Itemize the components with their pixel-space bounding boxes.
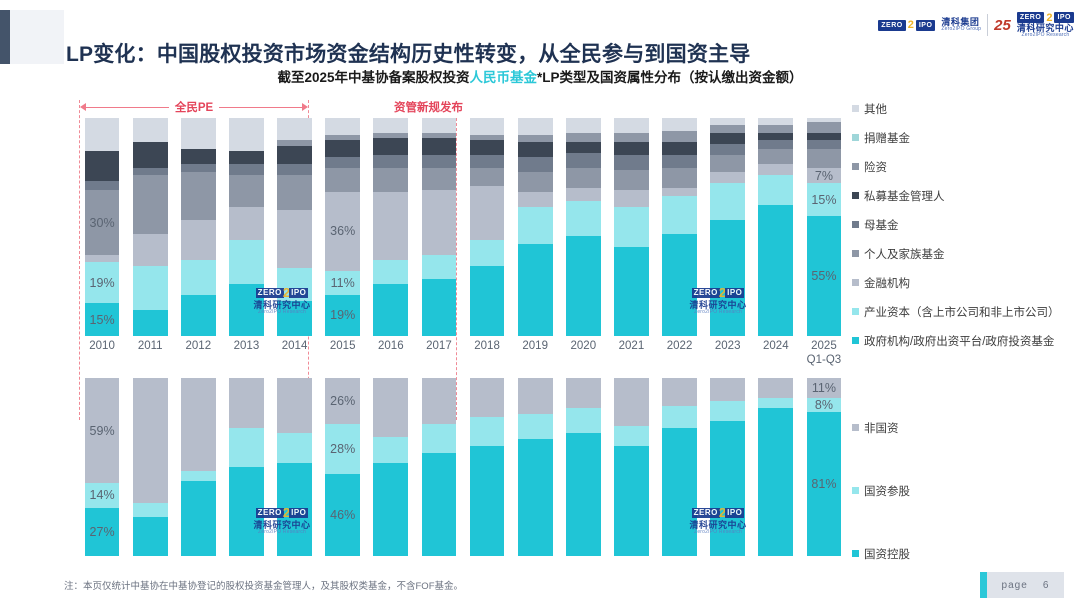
bar-segment[interactable] (566, 168, 601, 188)
bar-segment[interactable] (133, 503, 168, 517)
bar-column[interactable] (415, 118, 463, 336)
bar-column[interactable] (174, 118, 222, 336)
bar-segment[interactable] (662, 142, 697, 155)
bar-value-label: 7% (807, 169, 842, 183)
bar-segment[interactable] (133, 266, 168, 310)
bar-segment[interactable] (181, 471, 216, 482)
bar-column[interactable] (174, 378, 222, 556)
legend-item[interactable]: 其他 (852, 94, 1080, 123)
x-axis-tick: 2020 (559, 336, 607, 376)
stacked-bar[interactable] (662, 378, 697, 556)
bar-segment[interactable] (181, 164, 216, 173)
legend-swatch-icon (852, 134, 859, 141)
bar-segment[interactable]: 26% (325, 378, 360, 424)
legend-item[interactable]: 母基金 (852, 210, 1080, 239)
bar-segment[interactable] (373, 155, 408, 168)
legend-label: 产业资本（含上市公司和非上市公司） (864, 304, 1060, 320)
bar-segment[interactable] (133, 175, 168, 234)
bar-column[interactable] (511, 118, 559, 336)
x-axis-tick: 2015 (319, 336, 367, 376)
bar-segment[interactable] (470, 446, 505, 556)
bar-segment[interactable] (518, 172, 553, 192)
x-axis-tick: 2019 (511, 336, 559, 376)
bar-segment[interactable] (229, 118, 264, 151)
bar-segment[interactable] (662, 188, 697, 197)
stacked-bar[interactable] (181, 118, 216, 336)
bar-segment[interactable] (373, 118, 408, 133)
stacked-bar[interactable] (566, 118, 601, 336)
legend-label: 国资参股 (864, 483, 910, 499)
annotation-quanmin-label: 全民PE (169, 99, 219, 115)
stacked-bar[interactable]: 11%8%81% (807, 378, 842, 556)
legend-item[interactable]: 国资参股 (852, 459, 1080, 522)
bar-segment[interactable]: 11% (807, 378, 842, 398)
bar-segment[interactable] (518, 414, 553, 439)
bar-segment[interactable] (758, 149, 793, 164)
bar-segment[interactable]: 15% (807, 183, 842, 216)
bar-segment[interactable] (133, 234, 168, 267)
bar-column[interactable] (463, 118, 511, 336)
stacked-bar[interactable]: 26%28%46% (325, 378, 360, 556)
bar-segment[interactable] (518, 378, 553, 414)
stacked-bar[interactable] (373, 378, 408, 556)
bar-segment[interactable] (614, 142, 649, 155)
bar-segment[interactable]: 55% (807, 216, 842, 336)
bar-column[interactable] (607, 118, 655, 336)
bar-segment[interactable] (277, 268, 312, 301)
legend-swatch-icon (852, 337, 859, 344)
bar-column[interactable] (559, 118, 607, 336)
legend-item[interactable]: 金融机构 (852, 268, 1080, 297)
bar-segment[interactable] (277, 433, 312, 463)
bar-segment[interactable] (422, 424, 457, 452)
stacked-bar[interactable] (758, 118, 793, 336)
bar-segment[interactable] (470, 168, 505, 185)
bar-segment[interactable] (710, 401, 745, 421)
bar-segment[interactable] (229, 284, 264, 336)
bar-series-bottom: 59%14%27%26%28%46%11%8%81% (78, 378, 848, 556)
bar-segment[interactable]: 46% (325, 474, 360, 556)
bar-segment[interactable] (133, 118, 168, 142)
bar-segment[interactable] (373, 260, 408, 284)
bar-segment[interactable] (662, 131, 697, 142)
bar-segment[interactable] (614, 170, 649, 190)
stacked-bar[interactable] (277, 378, 312, 556)
bar-segment[interactable] (133, 378, 168, 503)
legend-label: 国资控股 (864, 546, 910, 562)
stacked-bar[interactable]: 36%11%19% (325, 118, 360, 336)
stacked-bar[interactable] (133, 118, 168, 336)
bar-column[interactable]: 36%11%19% (319, 118, 367, 336)
bar-segment[interactable] (422, 168, 457, 190)
bar-segment[interactable] (614, 190, 649, 207)
bar-segment[interactable] (614, 155, 649, 170)
stacked-bar[interactable] (518, 378, 553, 556)
bar-segment[interactable]: 15% (85, 303, 120, 336)
legend-item[interactable]: 个人及家族基金 (852, 239, 1080, 268)
bar-segment[interactable] (422, 190, 457, 255)
x-axis-tick: 2012 (174, 336, 222, 376)
stacked-bar[interactable] (373, 118, 408, 336)
bar-segment[interactable] (710, 378, 745, 401)
bar-segment[interactable] (662, 406, 697, 427)
bar-segment[interactable] (181, 172, 216, 220)
bar-segment[interactable] (566, 408, 601, 433)
ipo-box-right: IPO (1054, 12, 1074, 23)
bar-value-label: 27% (85, 525, 120, 539)
bar-column[interactable] (511, 378, 559, 556)
x-axis-tick: 2011 (126, 336, 174, 376)
bar-segment[interactable] (373, 192, 408, 260)
bar-column[interactable]: 7%15%55% (800, 118, 848, 336)
bar-segment[interactable] (85, 181, 120, 190)
bar-segment[interactable]: 8% (807, 398, 842, 412)
bar-segment[interactable] (518, 142, 553, 157)
bar-segment[interactable] (229, 467, 264, 556)
chart-lp-type: 30%19%15%36%11%19%7%15%55% ZERO 2 IPO 清科… (78, 118, 848, 336)
bar-segment[interactable] (614, 426, 649, 446)
bar-segment[interactable]: 59% (85, 378, 120, 483)
bar-column[interactable] (367, 378, 415, 556)
stacked-bar[interactable]: 7%15%55% (807, 118, 842, 336)
bar-segment[interactable] (566, 201, 601, 236)
bar-value-label: 14% (85, 488, 120, 502)
bar-segment[interactable] (758, 140, 793, 149)
bar-column[interactable] (271, 378, 319, 556)
bar-segment[interactable] (277, 164, 312, 175)
bar-segment[interactable] (807, 149, 842, 169)
bar-value-label: 26% (325, 394, 360, 408)
bar-segment[interactable] (277, 118, 312, 140)
charts-container: 全民PE 资管新规发布 30%19%15%36%11%19%7%15%55% Z… (78, 96, 848, 564)
bar-segment[interactable] (518, 157, 553, 172)
logo-divider (987, 14, 988, 36)
bar-segment[interactable] (710, 133, 745, 144)
bar-segment[interactable] (373, 168, 408, 192)
bar-segment[interactable] (710, 155, 745, 172)
bar-segment[interactable] (373, 378, 408, 437)
bar-segment[interactable] (662, 118, 697, 131)
stacked-bar[interactable] (422, 378, 457, 556)
bar-segment[interactable] (518, 192, 553, 207)
legend-swatch-icon (852, 550, 859, 557)
bar-segment[interactable] (614, 118, 649, 133)
zero2ipo-research-logo: ZERO 2 IPO 清科研究中心 Zero2IPO Research (1017, 12, 1074, 38)
legend-swatch-icon (852, 192, 859, 199)
x-axis-tick: 2023 (704, 336, 752, 376)
bar-segment[interactable] (710, 172, 745, 183)
bar-segment[interactable] (710, 125, 745, 134)
bar-column[interactable] (222, 118, 270, 336)
bar-segment[interactable] (325, 168, 360, 192)
bar-segment[interactable] (133, 142, 168, 168)
bar-segment[interactable] (181, 260, 216, 295)
stacked-bar[interactable] (229, 118, 264, 336)
bar-segment[interactable] (325, 157, 360, 168)
chart-subtitle: 截至2025年中基协备案股权投资人民币基金*LP类型及国资属性分布（按认缴出资金… (0, 66, 1080, 86)
bar-segment[interactable] (614, 207, 649, 246)
x-axis-tick: 2025Q1-Q3 (800, 336, 848, 376)
subtitle-pre: 截至2025年中基协备案股权投资 (277, 70, 469, 85)
bar-series-top: 30%19%15%36%11%19%7%15%55% (78, 118, 848, 336)
stacked-bar[interactable] (614, 378, 649, 556)
bar-value-label: 81% (807, 477, 842, 491)
bar-segment[interactable] (566, 153, 601, 168)
era-annotations: 全民PE 资管新规发布 (78, 96, 848, 118)
bar-segment[interactable] (325, 118, 360, 135)
bar-segment[interactable] (614, 378, 649, 426)
x-axis-tick: 2010 (78, 336, 126, 376)
x-axis-tick: 2016 (367, 336, 415, 376)
bar-segment[interactable] (277, 301, 312, 336)
bar-column[interactable]: 11%8%81% (800, 378, 848, 556)
bar-segment[interactable] (422, 453, 457, 556)
bar-segment[interactable]: 27% (85, 508, 120, 556)
bar-segment[interactable] (470, 140, 505, 155)
footnote: 注：本页仅统计中基协在中基协登记的股权投资基金管理人，及其股权类基金，不含FOF… (64, 578, 463, 592)
bar-value-label: 59% (85, 424, 120, 438)
stacked-bar[interactable] (710, 118, 745, 336)
bar-segment[interactable] (325, 140, 360, 157)
bar-segment[interactable] (518, 439, 553, 556)
bar-segment[interactable] (662, 155, 697, 168)
bar-segment[interactable] (470, 378, 505, 417)
bar-segment[interactable] (470, 417, 505, 445)
legend-item[interactable]: 捐赠基金 (852, 123, 1080, 152)
bar-segment[interactable] (422, 138, 457, 155)
bar-segment[interactable] (662, 378, 697, 406)
bar-segment[interactable] (229, 175, 264, 208)
bar-segment[interactable] (229, 378, 264, 428)
bar-segment[interactable] (422, 118, 457, 133)
page-title: LP变化：中国股权投资市场资金结构历史性转变，从全民参与到国资主导 (66, 38, 750, 68)
legend-label: 个人及家族基金 (864, 246, 945, 262)
bar-segment[interactable] (614, 446, 649, 556)
bar-column[interactable]: 26%28%46% (319, 378, 367, 556)
bar-segment[interactable] (373, 138, 408, 155)
bar-segment[interactable] (710, 144, 745, 155)
page-text: page 6 (987, 580, 1064, 591)
page-indicator: page 6 (980, 572, 1064, 598)
stacked-bar[interactable]: 59%14%27% (85, 378, 120, 556)
bar-segment[interactable] (566, 378, 601, 408)
bar-value-label: 46% (325, 508, 360, 522)
bar-segment[interactable] (710, 421, 745, 556)
legend-label: 私募基金管理人 (864, 188, 945, 204)
bar-segment[interactable] (807, 140, 842, 149)
bar-segment[interactable] (229, 164, 264, 175)
stacked-bar[interactable] (470, 118, 505, 336)
subtitle-post: *LP类型及国资属性分布（按认缴出资金额） (537, 70, 803, 85)
bar-segment[interactable] (566, 188, 601, 201)
bar-segment[interactable] (662, 168, 697, 188)
bar-segment[interactable] (758, 205, 793, 336)
bar-segment[interactable] (807, 122, 842, 133)
bar-segment[interactable] (566, 118, 601, 133)
bar-segment[interactable] (470, 186, 505, 241)
bar-segment[interactable] (566, 433, 601, 556)
bar-segment[interactable] (662, 428, 697, 556)
stacked-bar[interactable] (710, 378, 745, 556)
bar-segment[interactable]: 14% (85, 483, 120, 508)
legend-swatch-icon (852, 105, 859, 112)
bar-segment[interactable] (518, 207, 553, 244)
bar-segment[interactable] (566, 142, 601, 153)
bar-column[interactable]: 59%14%27% (78, 378, 126, 556)
legend-item[interactable]: 私募基金管理人 (852, 181, 1080, 210)
bar-column[interactable] (752, 378, 800, 556)
stacked-bar[interactable] (518, 118, 553, 336)
stacked-bar[interactable] (566, 378, 601, 556)
bar-segment[interactable] (277, 378, 312, 433)
legend-swatch-icon (852, 424, 859, 431)
zero2ipo-group-logo: ZERO 2 IPO 清科集团 Zero2IPO Group (878, 18, 981, 32)
bar-segment[interactable] (277, 146, 312, 163)
bar-segment[interactable] (422, 378, 457, 424)
bar-value-label: 30% (85, 216, 120, 230)
bar-column[interactable] (607, 378, 655, 556)
bar-segment[interactable] (181, 378, 216, 471)
bar-segment[interactable] (470, 240, 505, 266)
bar-column[interactable] (656, 118, 704, 336)
bar-segment[interactable] (614, 133, 649, 142)
bar-segment[interactable] (181, 149, 216, 164)
bar-segment[interactable] (229, 207, 264, 240)
bar-segment[interactable] (566, 133, 601, 142)
stacked-bar[interactable]: 30%19%15% (85, 118, 120, 336)
bar-segment[interactable] (566, 236, 601, 336)
bar-segment[interactable] (277, 175, 312, 210)
bar-column[interactable] (704, 118, 752, 336)
bar-segment[interactable]: 7% (807, 168, 842, 183)
stacked-bar[interactable] (758, 378, 793, 556)
bar-column[interactable] (367, 118, 415, 336)
legend-item[interactable]: 产业资本（含上市公司和非上市公司） (852, 297, 1080, 326)
x-axis-tick: 2014 (271, 336, 319, 376)
bar-segment[interactable] (373, 437, 408, 464)
bar-column[interactable] (126, 378, 174, 556)
bar-segment[interactable] (422, 155, 457, 168)
bar-segment[interactable] (758, 408, 793, 556)
stacked-bar[interactable] (470, 378, 505, 556)
bar-column[interactable] (463, 378, 511, 556)
bar-segment[interactable] (758, 378, 793, 398)
group-en-name: Zero2IPO Group (941, 27, 981, 32)
bar-segment[interactable] (470, 266, 505, 336)
legend-lp-type: 其他捐赠基金险资私募基金管理人母基金个人及家族基金金融机构产业资本（含上市公司和… (852, 94, 1080, 355)
bar-segment[interactable] (710, 220, 745, 336)
bar-column[interactable] (752, 118, 800, 336)
bar-segment[interactable] (518, 244, 553, 336)
bar-segment[interactable] (181, 481, 216, 556)
legend-label: 金融机构 (864, 275, 910, 291)
bar-column[interactable] (126, 118, 174, 336)
bar-column[interactable] (271, 118, 319, 336)
zero-box-left: ZERO (878, 20, 905, 31)
page-accent-tick (980, 572, 987, 598)
chart-state-capital: 59%14%27%26%28%46%11%8%81% ZERO 2 IPO 清科… (78, 378, 848, 556)
legend-state-capital: 非国资国资参股国资控股 (852, 396, 1080, 585)
bar-segment[interactable] (85, 151, 120, 182)
legend-item[interactable]: 险资 (852, 152, 1080, 181)
x-axis-tick: 2017 (415, 336, 463, 376)
legend-swatch-icon (852, 250, 859, 257)
bar-segment[interactable]: 36% (325, 192, 360, 270)
stacked-bar[interactable] (277, 118, 312, 336)
stacked-bar[interactable] (662, 118, 697, 336)
bar-segment[interactable] (229, 151, 264, 164)
bar-segment[interactable]: 11% (325, 271, 360, 295)
bar-column[interactable] (559, 378, 607, 556)
two-glyph-right: 2 (1046, 13, 1052, 23)
bar-segment[interactable] (614, 247, 649, 336)
bar-segment[interactable] (470, 155, 505, 168)
legend-label: 其他 (864, 101, 887, 117)
bar-segment[interactable] (662, 234, 697, 336)
bar-segment[interactable] (229, 240, 264, 284)
research-en-name: Zero2IPO Research (1021, 33, 1069, 38)
bar-segment[interactable] (758, 175, 793, 206)
bar-segment[interactable]: 28% (325, 424, 360, 474)
bar-segment[interactable] (758, 125, 793, 134)
bar-segment[interactable] (85, 118, 120, 151)
bar-column[interactable] (704, 378, 752, 556)
bar-segment[interactable] (277, 210, 312, 269)
stacked-bar[interactable] (133, 378, 168, 556)
bar-column[interactable] (415, 378, 463, 556)
bar-segment[interactable]: 30% (85, 190, 120, 255)
stacked-bar[interactable] (181, 378, 216, 556)
bar-segment[interactable] (133, 310, 168, 336)
bar-segment[interactable]: 81% (807, 412, 842, 556)
bar-segment[interactable] (422, 255, 457, 279)
x-axis-tick: 2022 (656, 336, 704, 376)
bar-segment[interactable] (133, 517, 168, 556)
bar-segment[interactable] (758, 398, 793, 409)
bar-segment[interactable] (373, 463, 408, 556)
bar-segment[interactable] (422, 279, 457, 336)
bar-segment[interactable] (181, 118, 216, 149)
bar-segment[interactable] (229, 428, 264, 467)
bar-segment[interactable] (662, 196, 697, 233)
bar-segment[interactable] (518, 118, 553, 135)
bar-segment[interactable] (710, 183, 745, 220)
bar-segment[interactable]: 19% (85, 262, 120, 303)
subtitle-highlight: 人民币基金 (470, 70, 538, 85)
stacked-bar[interactable] (614, 118, 649, 336)
bar-value-label: 55% (807, 269, 842, 283)
bar-segment[interactable] (277, 463, 312, 556)
bar-segment[interactable] (758, 164, 793, 175)
stacked-bar[interactable] (422, 118, 457, 336)
legend-item[interactable]: 政府机构/政府出资平台/政府投资基金 (852, 326, 1080, 355)
bar-segment[interactable]: 19% (325, 295, 360, 336)
bar-value-label: 19% (325, 308, 360, 322)
bar-segment[interactable] (181, 220, 216, 259)
bar-segment[interactable] (373, 284, 408, 336)
bar-segment[interactable] (470, 118, 505, 135)
x-axis-tick: 2021 (607, 336, 655, 376)
bar-column[interactable]: 30%19%15% (78, 118, 126, 336)
legend-item[interactable]: 非国资 (852, 396, 1080, 459)
bar-segment[interactable] (181, 295, 216, 336)
legend-swatch-icon (852, 308, 859, 315)
stacked-bar[interactable] (229, 378, 264, 556)
ipo-box-left: IPO (916, 20, 936, 31)
bar-column[interactable] (222, 378, 270, 556)
bar-column[interactable] (656, 378, 704, 556)
bar-value-label: 11% (325, 276, 360, 290)
